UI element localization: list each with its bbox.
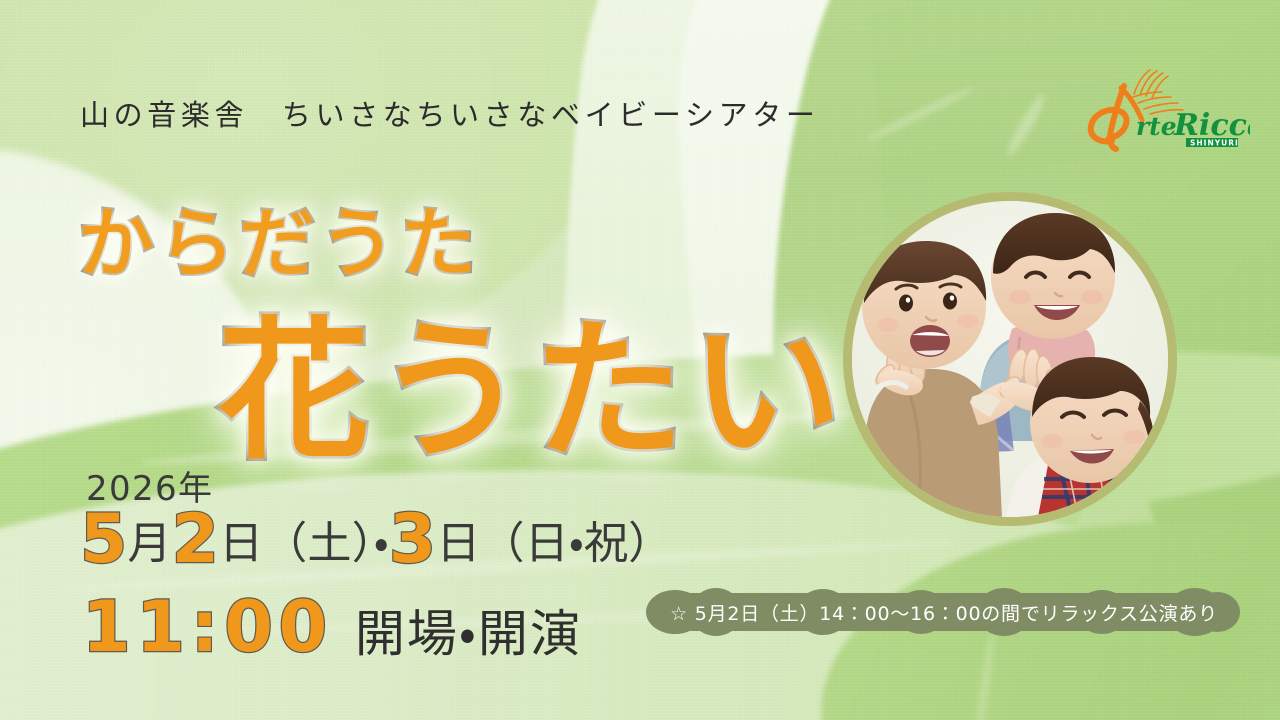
logo-mark-icon: rte Ricca SHINYURI xyxy=(1078,64,1250,154)
poster-root: 山の音楽舎 ちいさなちいさなベイビーシアター rte Ricca xyxy=(0,0,1280,720)
date-day2-number: 3 xyxy=(389,500,436,579)
relax-performance-banner: ☆ 5月2日（土）14：00〜16：00の間でリラックス公演あり xyxy=(646,588,1242,636)
svg-text:SHINYURI: SHINYURI xyxy=(1190,139,1239,148)
svg-text:rte: rte xyxy=(1136,112,1177,141)
baby-photo-circle xyxy=(843,192,1177,526)
baby-photo-illustration xyxy=(852,201,1168,517)
title-main: 花うたい xyxy=(218,268,847,488)
event-time-line: 11:00開場・開演 xyxy=(82,586,582,668)
event-time-label: 開場・開演 xyxy=(355,605,582,663)
date-month-number: 5 xyxy=(80,500,127,579)
header-company-line: 山の音楽舎 ちいさなちいさなベイビーシアター xyxy=(80,92,820,134)
date-day2-kanji: 日（日・祝） xyxy=(436,518,672,569)
date-month-kanji: 月 xyxy=(127,518,171,569)
arte-ricca-logo: rte Ricca SHINYURI 川崎・しんゆり芸術祭 アルテリッカしんゆり xyxy=(1078,64,1250,154)
event-time-value: 11:00 xyxy=(82,586,333,668)
photo-inner xyxy=(852,201,1168,517)
date-day1-kanji: 日（土）・ xyxy=(219,518,389,569)
date-day1-number: 2 xyxy=(172,500,219,579)
relax-banner-text: ☆ 5月2日（土）14：00〜16：00の間でリラックス公演あり xyxy=(646,588,1242,636)
event-date-line: 5月2日（土）・3日（日・祝） xyxy=(80,500,672,579)
